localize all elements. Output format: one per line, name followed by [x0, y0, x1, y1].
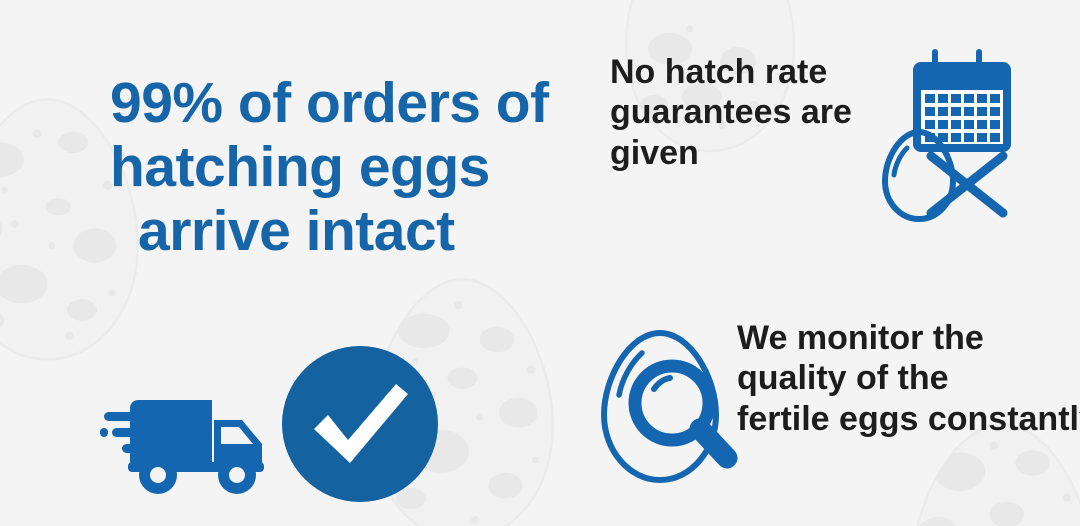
bottom-right-line-2: quality of the — [737, 358, 1080, 398]
calendar-egg-cross-icon — [873, 48, 1018, 234]
infographic-canvas: 99% of orders of hatching eggs arrive in… — [0, 0, 1080, 526]
quality-monitoring-text: We monitor the quality of the fertile eg… — [737, 318, 1080, 439]
headline-line-1: 99% of orders of — [110, 72, 580, 136]
headline-line-2: hatching eggs — [110, 136, 580, 200]
bottom-right-line-3: fertile eggs constantly — [737, 399, 1080, 439]
headline: 99% of orders of hatching eggs arrive in… — [60, 72, 580, 263]
egg-magnifier-icon — [598, 327, 748, 495]
top-right-line-3: given — [610, 133, 852, 173]
top-right-line-2: guarantees are — [610, 92, 852, 132]
check-circle-icon — [281, 345, 439, 503]
top-right-line-1: No hatch rate — [610, 52, 852, 92]
no-hatch-rate-guarantee-text: No hatch rate guarantees are given — [610, 52, 852, 173]
bottom-right-line-1: We monitor the — [737, 318, 1080, 358]
headline-line-3: arrive intact — [138, 200, 580, 264]
delivery-truck-icon — [100, 378, 280, 496]
